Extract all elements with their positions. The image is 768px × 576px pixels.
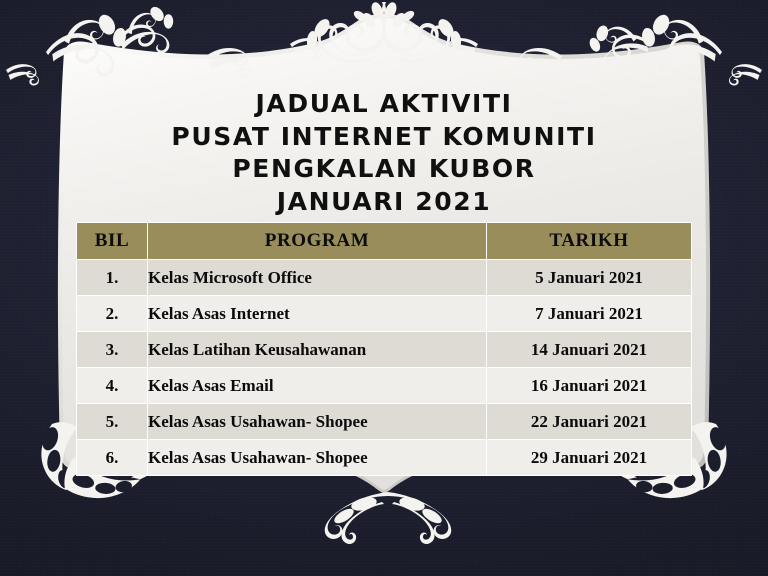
cell-tarikh: 22 Januari 2021 (487, 404, 691, 439)
cell-tarikh: 29 Januari 2021 (487, 440, 691, 475)
table-row: 3. Kelas Latihan Keusahawanan 14 Januari… (77, 332, 691, 367)
cell-tarikh: 16 Januari 2021 (487, 368, 691, 403)
cell-bil: 4. (77, 368, 147, 403)
cell-program: Kelas Microsoft Office (148, 260, 486, 295)
title-line-1: Jadual Aktiviti (0, 88, 768, 121)
table-row: 5. Kelas Asas Usahawan- Shopee 22 Januar… (77, 404, 691, 439)
cell-bil: 3. (77, 332, 147, 367)
table-row: 4. Kelas Asas Email 16 Januari 2021 (77, 368, 691, 403)
cell-program: Kelas Asas Internet (148, 296, 486, 331)
table-row: 2. Kelas Asas Internet 7 Januari 2021 (77, 296, 691, 331)
table-header-row: BIL PROGRAM TARIKH (77, 223, 691, 259)
schedule-table: BIL PROGRAM TARIKH 1. Kelas Microsoft Of… (76, 222, 692, 476)
table-row: 1. Kelas Microsoft Office 5 Januari 2021 (77, 260, 691, 295)
cell-tarikh: 5 Januari 2021 (487, 260, 691, 295)
table-body: 1. Kelas Microsoft Office 5 Januari 2021… (77, 260, 691, 475)
cell-bil: 6. (77, 440, 147, 475)
cell-tarikh: 7 Januari 2021 (487, 296, 691, 331)
slide-title: Jadual Aktiviti Pusat Internet Komuniti … (0, 88, 768, 218)
title-line-3: Pengkalan Kubor (0, 153, 768, 186)
title-line-4: Januari 2021 (0, 186, 768, 219)
slide-canvas: Jadual Aktiviti Pusat Internet Komuniti … (0, 0, 768, 576)
cell-bil: 1. (77, 260, 147, 295)
cell-program: Kelas Latihan Keusahawanan (148, 332, 486, 367)
table-header: BIL PROGRAM TARIKH (77, 223, 691, 259)
column-header-bil: BIL (77, 223, 147, 259)
title-line-2: Pusat Internet Komuniti (0, 121, 768, 154)
cell-bil: 2. (77, 296, 147, 331)
cell-program: Kelas Asas Email (148, 368, 486, 403)
column-header-tarikh: TARIKH (487, 223, 691, 259)
cell-bil: 5. (77, 404, 147, 439)
cell-program: Kelas Asas Usahawan- Shopee (148, 404, 486, 439)
schedule-table-container: BIL PROGRAM TARIKH 1. Kelas Microsoft Of… (76, 222, 692, 476)
cell-program: Kelas Asas Usahawan- Shopee (148, 440, 486, 475)
table-row: 6. Kelas Asas Usahawan- Shopee 29 Januar… (77, 440, 691, 475)
column-header-program: PROGRAM (148, 223, 486, 259)
cell-tarikh: 14 Januari 2021 (487, 332, 691, 367)
